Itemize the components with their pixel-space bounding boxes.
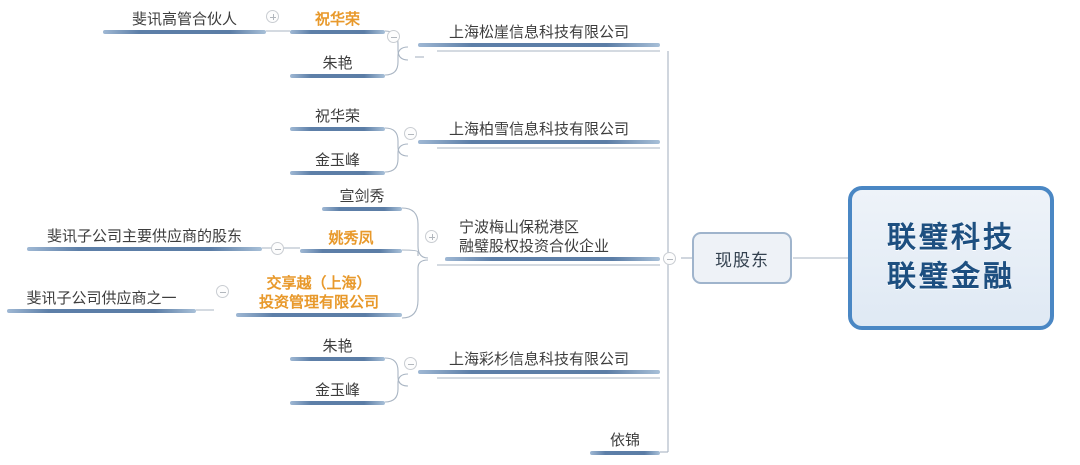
node-person-zhuyan-1[interactable]: 朱艳 bbox=[290, 54, 385, 78]
node-company-jiaoxiangyue[interactable]: 交享越（上海） 投资管理有限公司 bbox=[236, 274, 402, 317]
collapse-toggle-icon[interactable] bbox=[404, 127, 417, 140]
node-label: 金玉峰 bbox=[290, 381, 385, 400]
node-label: 依锦 bbox=[590, 431, 660, 450]
node-underline bbox=[418, 370, 660, 374]
node-underline bbox=[236, 313, 402, 317]
node-label: 祝华荣 bbox=[290, 107, 385, 126]
current-shareholder-label: 现股东 bbox=[715, 246, 769, 271]
node-underline bbox=[445, 257, 660, 261]
main-entity-line2: 联璧金融 bbox=[887, 258, 1015, 297]
node-underline bbox=[290, 171, 385, 175]
node-label: 上海彩杉信息科技有限公司 bbox=[418, 350, 660, 369]
node-underline bbox=[418, 140, 660, 144]
diagram-canvas: 斐讯高管合伙人 斐讯子公司主要供应商的股东 斐讯子公司供应商之一 祝华荣 朱艳 … bbox=[0, 0, 1080, 465]
node-company-songya[interactable]: 上海松崖信息科技有限公司 bbox=[418, 23, 660, 47]
node-underline bbox=[300, 249, 402, 253]
node-label-line1: 宁波梅山保税港区 bbox=[445, 218, 660, 237]
node-person-zhuhuarong-1[interactable]: 祝华荣 bbox=[290, 10, 385, 34]
node-company-boxue[interactable]: 上海柏雪信息科技有限公司 bbox=[418, 120, 660, 144]
collapse-toggle-icon[interactable] bbox=[404, 357, 417, 370]
node-role-supplier-shareholder[interactable]: 斐讯子公司主要供应商的股东 bbox=[27, 227, 262, 251]
node-label: 斐讯子公司供应商之一 bbox=[7, 289, 196, 308]
node-person-yaoxiufeng[interactable]: 姚秀凤 bbox=[300, 229, 402, 253]
node-company-ningbo[interactable]: 宁波梅山保税港区 融璧股权投资合伙企业 bbox=[445, 218, 660, 261]
node-person-zhuyan-2[interactable]: 朱艳 bbox=[290, 337, 385, 361]
node-person-xuanjianxiu[interactable]: 宣剑秀 bbox=[322, 187, 402, 211]
node-underline bbox=[103, 30, 266, 34]
node-person-yijin[interactable]: 依锦 bbox=[590, 431, 660, 455]
main-entity-box[interactable]: 联璧科技 联璧金融 bbox=[848, 186, 1054, 330]
node-label: 宣剑秀 bbox=[322, 187, 402, 206]
collapse-toggle-icon[interactable] bbox=[266, 10, 279, 23]
node-label: 斐讯子公司主要供应商的股东 bbox=[27, 227, 262, 246]
collapse-toggle-icon[interactable] bbox=[271, 242, 284, 255]
node-label: 上海柏雪信息科技有限公司 bbox=[418, 120, 660, 139]
node-role-supplier-one[interactable]: 斐讯子公司供应商之一 bbox=[7, 289, 196, 313]
node-label: 朱艳 bbox=[290, 54, 385, 73]
node-label: 金玉峰 bbox=[290, 151, 385, 170]
node-underline bbox=[322, 207, 402, 211]
node-company-caishan[interactable]: 上海彩杉信息科技有限公司 bbox=[418, 350, 660, 374]
node-underline bbox=[418, 43, 660, 47]
node-underline bbox=[290, 30, 385, 34]
node-label: 朱艳 bbox=[290, 337, 385, 356]
node-role-exec-partner[interactable]: 斐讯高管合伙人 bbox=[103, 10, 266, 34]
node-label: 祝华荣 bbox=[290, 10, 385, 29]
collapse-toggle-icon[interactable] bbox=[425, 230, 438, 243]
node-label: 姚秀凤 bbox=[300, 229, 402, 248]
node-underline bbox=[290, 357, 385, 361]
node-underline bbox=[590, 451, 660, 455]
main-entity-line1: 联璧科技 bbox=[887, 219, 1015, 258]
current-shareholder-box[interactable]: 现股东 bbox=[692, 232, 792, 284]
node-label-line2: 融璧股权投资合伙企业 bbox=[445, 237, 660, 256]
collapse-toggle-icon[interactable] bbox=[387, 30, 400, 43]
node-underline bbox=[290, 74, 385, 78]
node-label-line2: 投资管理有限公司 bbox=[236, 293, 402, 312]
collapse-toggle-icon[interactable] bbox=[663, 252, 676, 265]
node-underline bbox=[290, 401, 385, 405]
collapse-toggle-icon[interactable] bbox=[216, 285, 229, 298]
node-label: 上海松崖信息科技有限公司 bbox=[418, 23, 660, 42]
node-underline bbox=[290, 127, 385, 131]
node-label-line1: 交享越（上海） bbox=[236, 274, 402, 293]
node-person-zhuhuarong-2[interactable]: 祝华荣 bbox=[290, 107, 385, 131]
node-underline bbox=[7, 309, 196, 313]
node-person-jinyufeng-2[interactable]: 金玉峰 bbox=[290, 381, 385, 405]
node-label: 斐讯高管合伙人 bbox=[103, 10, 266, 29]
node-person-jinyufeng-1[interactable]: 金玉峰 bbox=[290, 151, 385, 175]
node-underline bbox=[27, 247, 262, 251]
